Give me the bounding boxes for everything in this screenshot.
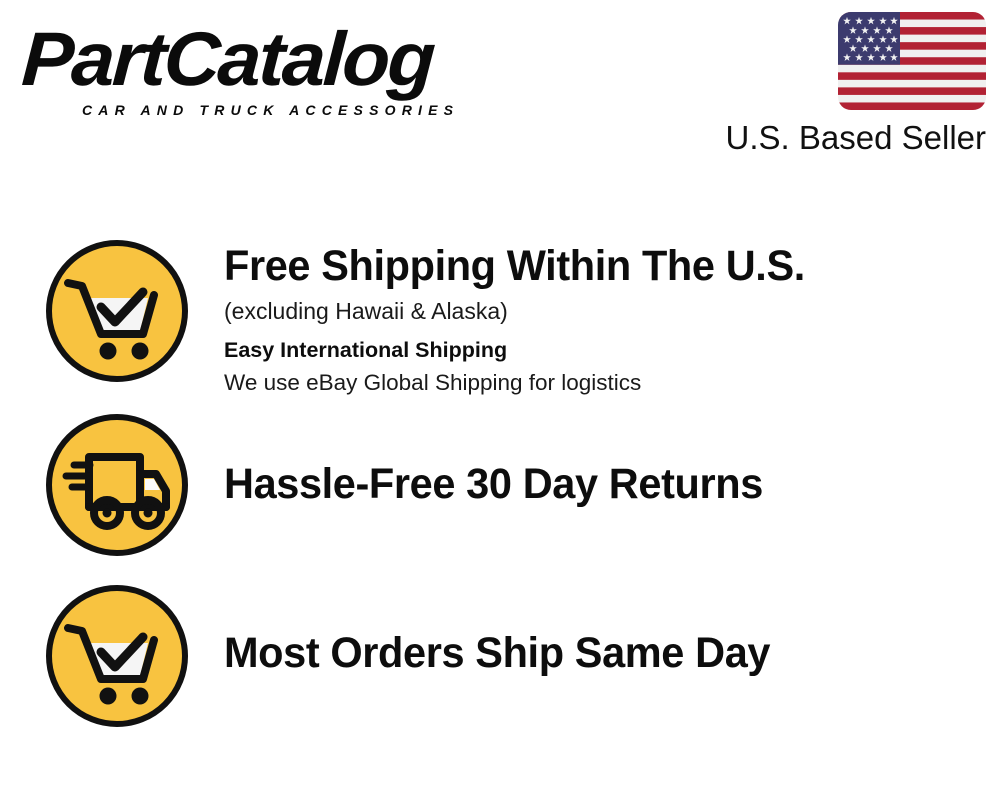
delivery-truck-icon [44,412,190,558]
us-based-seller-label: U.S. Based Seller [560,118,986,158]
shopping-cart-check-icon [44,583,190,729]
feature-note: (excluding Hawaii & Alaska) [224,294,1000,328]
feature-subheading: Easy International Shipping [224,334,1000,366]
feature-heading: Most Orders Ship Same Day [224,627,973,679]
feature-text-block: Most Orders Ship Same Day [190,583,1000,679]
shopping-cart-check-icon [44,238,190,384]
brand-wordmark: PartCatalog [20,22,508,98]
feature-row: Hassle-Free 30 Day Returns [0,412,1000,582]
feature-heading: Free Shipping Within The U.S. [224,240,973,292]
feature-text-block: Hassle-Free 30 Day Returns [190,412,1000,510]
banner-header: PartCatalog CAR AND TRUCK ACCESSORIES [0,0,1000,175]
us-flag-icon [838,12,986,110]
feature-heading: Hassle-Free 30 Day Returns [224,458,973,510]
shipping-info-banner: PartCatalog CAR AND TRUCK ACCESSORIES [0,0,1000,800]
feature-subnote: We use eBay Global Shipping for logistic… [224,366,1000,399]
feature-row: Free Shipping Within The U.S. (excluding… [0,238,1000,413]
partcatalog-logo: PartCatalog CAR AND TRUCK ACCESSORIES [24,22,494,117]
feature-text-block: Free Shipping Within The U.S. (excluding… [190,238,1000,399]
brand-tagline: CAR AND TRUCK ACCESSORIES [82,102,459,118]
feature-row: Most Orders Ship Same Day [0,583,1000,755]
